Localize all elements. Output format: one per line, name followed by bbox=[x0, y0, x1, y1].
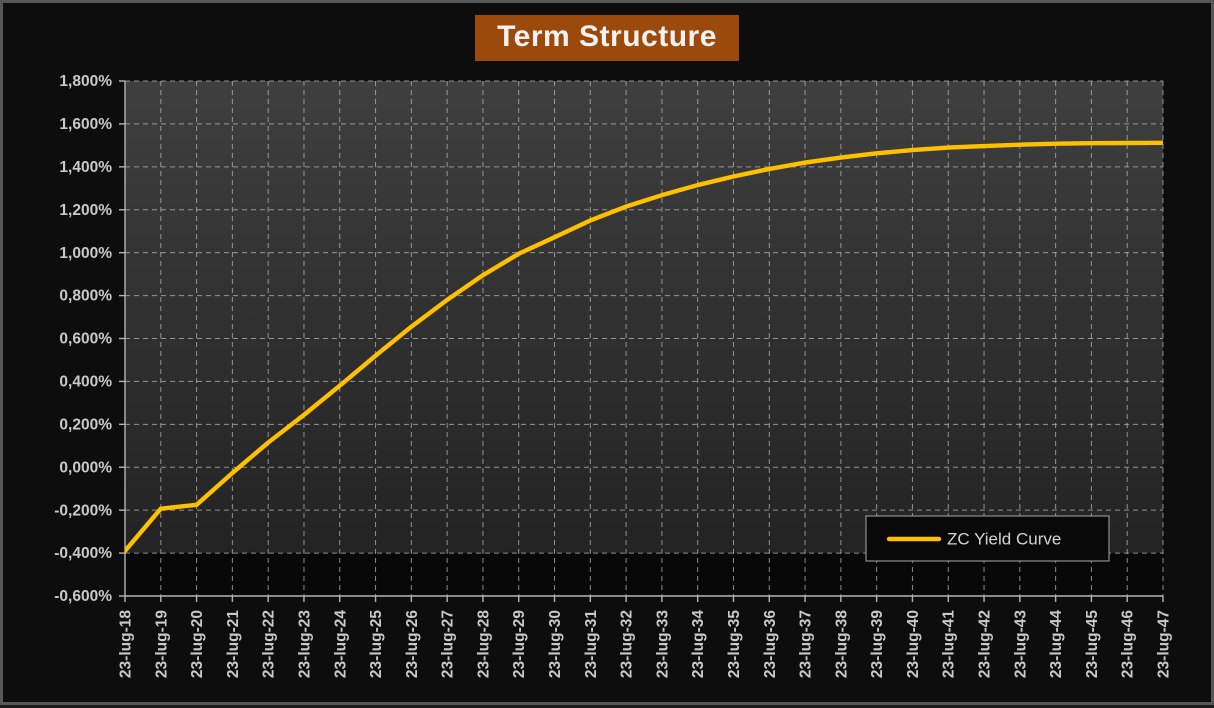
x-axis-tick-label: 23-lug-38 bbox=[833, 610, 850, 678]
y-axis-tick-label: -0,200% bbox=[54, 502, 112, 519]
x-axis-tick-label: 23-lug-41 bbox=[941, 610, 958, 678]
y-axis-tick-label: -0,600% bbox=[54, 588, 112, 605]
x-axis-tick-label: 23-lug-27 bbox=[440, 610, 457, 678]
y-axis-tick-label: 1,200% bbox=[59, 202, 112, 219]
x-axis-tick-label: 23-lug-44 bbox=[1048, 610, 1065, 678]
y-axis-tick-labels: 1,800%1,600%1,400%1,200%1,000%0,800%0,60… bbox=[54, 73, 112, 605]
y-axis-tick-label: 0,400% bbox=[59, 374, 112, 391]
y-axis-tick-label: -0,400% bbox=[54, 545, 112, 562]
x-axis-tick-label: 23-lug-35 bbox=[726, 610, 743, 678]
y-axis-tick-label: 1,400% bbox=[59, 159, 112, 176]
x-axis-tick-label: 23-lug-46 bbox=[1120, 610, 1137, 678]
chart-container: Term Structure 1,800%1,600%1,400%1,200%1… bbox=[0, 0, 1214, 705]
term-structure-line-chart: 1,800%1,600%1,400%1,200%1,000%0,800%0,60… bbox=[3, 3, 1214, 708]
y-axis-tick-label: 0,000% bbox=[59, 459, 112, 476]
y-axis-tick-label: 0,200% bbox=[59, 416, 112, 433]
x-axis-tick-label: 23-lug-22 bbox=[261, 610, 278, 678]
x-axis-tick-label: 23-lug-42 bbox=[977, 610, 994, 678]
x-axis-tick-label: 23-lug-30 bbox=[547, 610, 564, 678]
x-axis-tick-label: 23-lug-34 bbox=[690, 610, 707, 678]
x-axis-tick-label: 23-lug-33 bbox=[654, 610, 671, 678]
x-axis-tick-labels: 23-lug-1823-lug-1923-lug-2023-lug-2123-l… bbox=[118, 610, 1173, 678]
x-axis-tick-label: 23-lug-32 bbox=[619, 610, 636, 678]
x-axis-tick-label: 23-lug-39 bbox=[869, 610, 886, 678]
y-axis-tick-marks bbox=[119, 81, 125, 596]
x-axis-tick-label: 23-lug-29 bbox=[511, 610, 528, 678]
y-axis-tick-label: 1,600% bbox=[59, 116, 112, 133]
x-axis-tick-label: 23-lug-18 bbox=[118, 610, 135, 678]
y-axis-tick-label: 0,600% bbox=[59, 331, 112, 348]
x-axis-tick-label: 23-lug-36 bbox=[762, 610, 779, 678]
x-axis-tick-label: 23-lug-47 bbox=[1156, 610, 1173, 678]
x-axis-tick-label: 23-lug-21 bbox=[225, 610, 242, 678]
x-axis-tick-label: 23-lug-26 bbox=[404, 610, 421, 678]
legend-label-zc-yield-curve: ZC Yield Curve bbox=[947, 529, 1061, 548]
chart-legend: ZC Yield Curve bbox=[866, 516, 1109, 561]
x-axis-tick-label: 23-lug-25 bbox=[368, 610, 385, 678]
y-axis-tick-label: 1,800% bbox=[59, 73, 112, 90]
x-axis-tick-label: 23-lug-37 bbox=[798, 610, 815, 678]
x-axis-tick-label: 23-lug-20 bbox=[189, 610, 206, 678]
x-axis-tick-label: 23-lug-45 bbox=[1084, 610, 1101, 678]
x-axis-tick-label: 23-lug-23 bbox=[296, 610, 313, 678]
x-axis-tick-label: 23-lug-43 bbox=[1012, 610, 1029, 678]
y-axis-tick-label: 1,000% bbox=[59, 245, 112, 262]
x-axis-tick-label: 23-lug-28 bbox=[475, 610, 492, 678]
y-axis-tick-label: 0,800% bbox=[59, 288, 112, 305]
x-axis-tick-marks bbox=[125, 596, 1163, 602]
x-axis-tick-label: 23-lug-40 bbox=[905, 610, 922, 678]
plot-area-background bbox=[125, 81, 1163, 553]
x-axis-tick-label: 23-lug-19 bbox=[153, 610, 170, 678]
x-axis-tick-label: 23-lug-31 bbox=[583, 610, 600, 678]
x-axis-tick-label: 23-lug-24 bbox=[332, 610, 349, 678]
